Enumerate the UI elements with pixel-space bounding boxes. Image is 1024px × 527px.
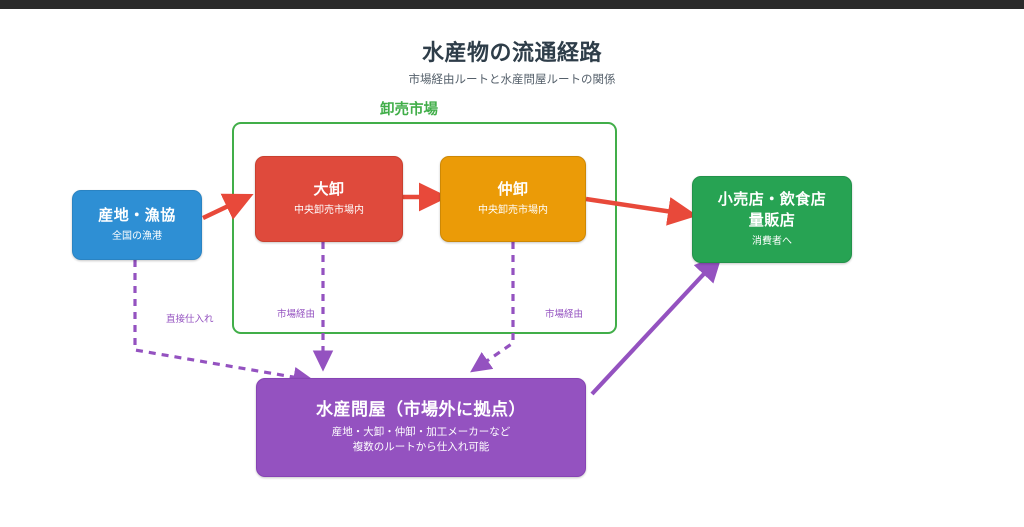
node-tonya-subtitle-2: 複数のルートから仕入れ可能 — [353, 440, 490, 456]
node-intermediate-wholesaler[interactable]: 仲卸 中央卸売市場内 — [440, 156, 586, 242]
page-title: 水産物の流通経路 — [0, 35, 1024, 67]
node-oroshi-title: 大卸 — [313, 180, 344, 200]
node-seafood-wholesaler[interactable]: 水産問屋（市場外に拠点） 産地・大卸・仲卸・加工メーカーなど 複数のルートから仕… — [256, 378, 586, 477]
node-tonya-title: 水産問屋（市場外に拠点） — [316, 399, 526, 422]
edge-label-direct-purchase: 直接仕入れ — [166, 311, 214, 325]
diagram-canvas: 水産物の流通経路 市場経由ルートと水産問屋ルートの関係 卸売市場 — [0, 9, 1024, 527]
node-origin-subtitle: 全国の漁港 — [112, 229, 162, 244]
window-top-bar — [0, 0, 1024, 9]
node-tonya-subtitle-1: 産地・大卸・仲卸・加工メーカーなど — [332, 425, 511, 441]
node-retail-title2: 量販店 — [749, 211, 796, 231]
node-nakaoroshi-title: 仲卸 — [497, 180, 528, 200]
node-retail-title: 小売店・飲食店 — [718, 190, 827, 210]
node-origin-title: 産地・漁協 — [98, 206, 176, 226]
node-primary-wholesaler[interactable]: 大卸 中央卸売市場内 — [255, 156, 403, 242]
node-retail-subtitle: 消費者へ — [752, 234, 792, 249]
node-origin-fishery[interactable]: 産地・漁協 全国の漁港 — [72, 190, 202, 260]
node-nakaoroshi-subtitle: 中央卸売市場内 — [478, 203, 548, 218]
cluster-label-wholesale-market: 卸売市場 — [380, 98, 438, 119]
edge-label-via-market-left: 市場経由 — [277, 306, 315, 320]
edge-label-via-market-right: 市場経由 — [545, 306, 583, 320]
node-retail-foodservice[interactable]: 小売店・飲食店 量販店 消費者へ — [692, 176, 852, 263]
page-subtitle: 市場経由ルートと水産問屋ルートの関係 — [0, 71, 1024, 87]
node-oroshi-subtitle: 中央卸売市場内 — [294, 203, 364, 218]
